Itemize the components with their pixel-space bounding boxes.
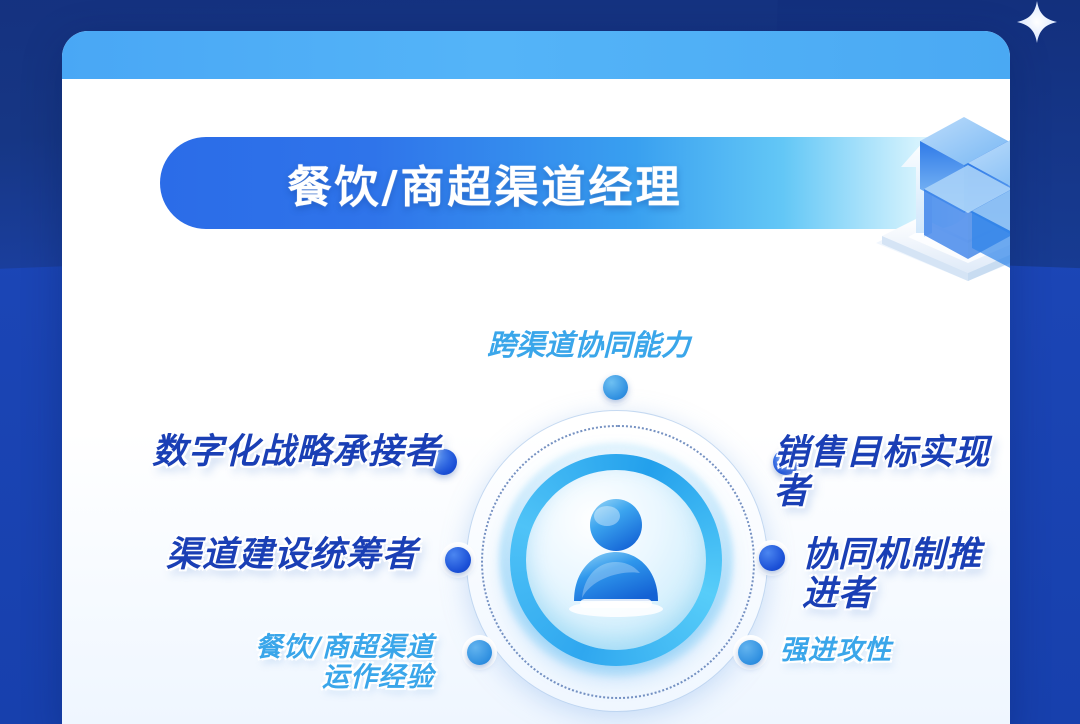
page-title: 餐饮/商超渠道经理 <box>160 137 980 229</box>
node-dot-bottom-left <box>467 640 492 665</box>
node-dot-lower-left <box>445 547 471 573</box>
competency-label-top: 跨渠道协同能力 <box>487 329 690 361</box>
competency-label-right-2: 协同机制推进者 <box>802 536 1010 614</box>
competency-label-left-1: 数字化战略承接者 <box>152 433 440 472</box>
title-pill: 餐饮/商超渠道经理 <box>160 137 980 229</box>
competency-label-left-2: 渠道建设统筹者 <box>166 536 418 575</box>
competency-label-left-3: 餐饮/商超渠道 运作经验 <box>234 633 434 693</box>
competency-hub <box>455 399 777 721</box>
competency-label-right-1: 销售目标实现者 <box>774 434 1010 512</box>
content-card: 餐饮/商超渠道经理 <box>62 31 1010 724</box>
node-dot-lower-right <box>759 545 785 571</box>
poster-canvas: 餐饮/商超渠道经理 <box>0 0 1080 724</box>
competency-label-right-3: 强进攻性 <box>780 636 892 666</box>
person-avatar-icon <box>526 470 706 650</box>
card-header-strip <box>62 31 1010 79</box>
node-dot-bottom-right <box>738 640 763 665</box>
node-dot-top <box>603 375 628 400</box>
isometric-cubes-icon <box>868 103 1010 293</box>
